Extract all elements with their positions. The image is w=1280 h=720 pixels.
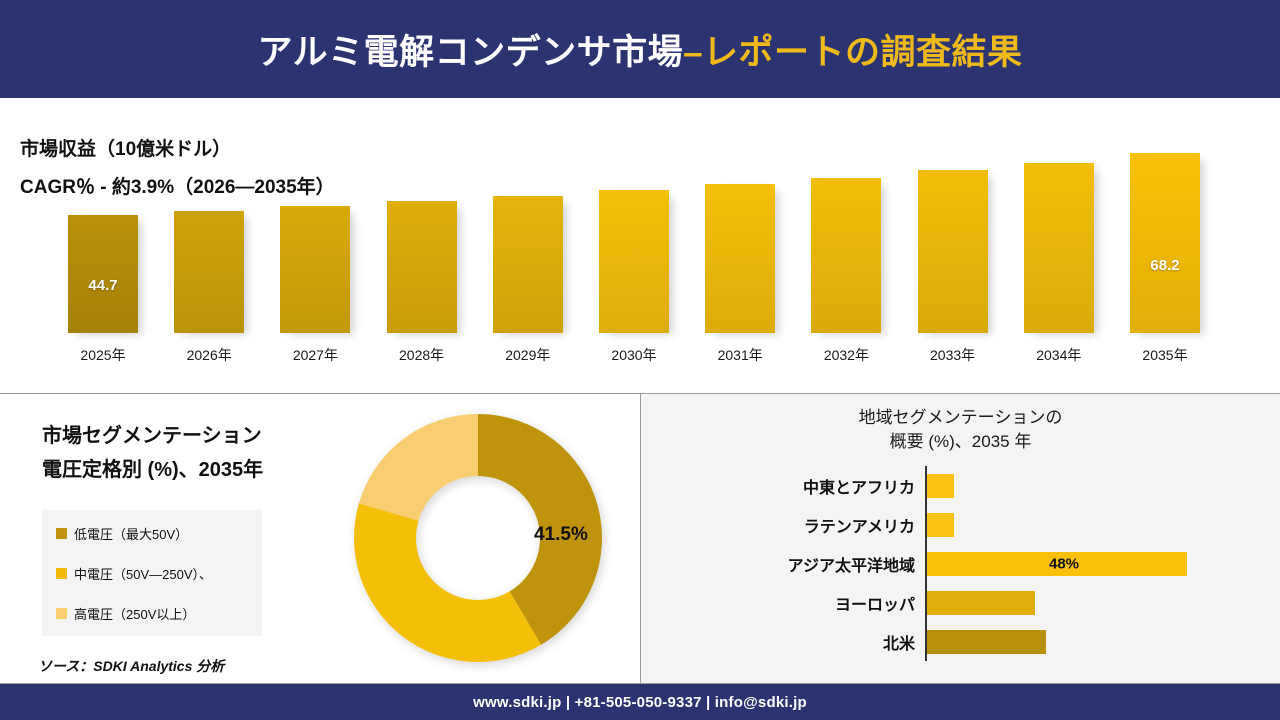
revenue-bar (811, 178, 881, 333)
revenue-bar (280, 206, 350, 333)
donut-slice (354, 503, 541, 662)
revenue-bar-column: 2028年 (387, 143, 457, 333)
revenue-bar (174, 211, 244, 333)
revenue-bar-x-label: 2026年 (174, 345, 244, 365)
revenue-bar (493, 196, 563, 333)
regional-bar (927, 513, 954, 537)
legend-swatch-icon (56, 568, 67, 579)
revenue-bar-x-label: 2025年 (68, 345, 138, 365)
legend-swatch-icon (56, 528, 67, 539)
revenue-bar-plot: 44.72025年2026年2027年2028年2029年2030年2031年2… (0, 98, 1280, 393)
regional-bar-label: アジア太平洋地域 (788, 552, 915, 576)
revenue-bar-x-label: 2033年 (918, 345, 988, 365)
revenue-bar-column: 2032年 (811, 143, 881, 333)
legend-item: 高電圧（250V以上） (56, 604, 195, 623)
regional-bar-label: ヨーロッパ (835, 591, 915, 615)
revenue-bar-value-label: 68.2 (1130, 257, 1200, 274)
page-title-main: アルミ電解コンデンサ市場 (257, 24, 683, 75)
donut-slice (359, 414, 478, 521)
revenue-bar (1130, 153, 1200, 333)
revenue-bar-x-label: 2028年 (387, 345, 457, 365)
regional-bar (927, 630, 1046, 654)
legend-item: 中電圧（50V―250V）、 (56, 564, 212, 583)
revenue-bar-x-label: 2030年 (599, 345, 669, 365)
regional-bar-row: ラテンアメリカ (641, 511, 1280, 539)
legend-item-label: 中電圧（50V―250V）、 (74, 564, 212, 583)
revenue-bar-column: 2031年 (705, 143, 775, 333)
segmentation-title-line1: 市場セグメンテーション (42, 419, 262, 448)
revenue-bar-x-label: 2027年 (280, 345, 350, 365)
revenue-bar-column: 2034年 (1024, 143, 1094, 333)
legend-item-label: 低電圧（最大50V） (74, 524, 188, 543)
segmentation-panel: 市場セグメンテーション 電圧定格別 (%)、2035年 低電圧（最大50V）中電… (0, 394, 640, 683)
revenue-bar (599, 190, 669, 333)
revenue-bar-x-label: 2029年 (493, 345, 563, 365)
regional-bar-label: 中東とアフリカ (803, 474, 915, 498)
revenue-bar-column: 2030年 (599, 143, 669, 333)
revenue-bar-column: 68.22035年 (1130, 143, 1200, 333)
revenue-bar (705, 184, 775, 333)
regional-bar-row: 中東とアフリカ (641, 472, 1280, 500)
footer-contact-text: www.sdki.jp | +81-505-050-9337 | info@sd… (473, 694, 807, 711)
legend-swatch-icon (56, 608, 67, 619)
revenue-bar-x-label: 2032年 (811, 345, 881, 365)
regional-bar-plot: 中東とアフリカラテンアメリカアジア太平洋地域48%ヨーロッパ北米 (641, 394, 1280, 683)
revenue-bar (68, 215, 138, 333)
regional-bar-label: 北米 (883, 630, 915, 654)
revenue-bar (918, 170, 988, 333)
regional-bar-row: 北米 (641, 628, 1280, 656)
legend-item: 低電圧（最大50V） (56, 524, 188, 543)
revenue-bar-x-label: 2035年 (1130, 345, 1200, 365)
legend-item-label: 高電圧（250V以上） (74, 604, 195, 623)
revenue-bar-x-label: 2034年 (1024, 345, 1094, 365)
revenue-bar-column: 2027年 (280, 143, 350, 333)
source-note: ソース：SDKI Analytics 分析 (38, 656, 224, 676)
regional-bar-label: ラテンアメリカ (804, 513, 915, 537)
revenue-chart-section: 市場収益（10億米ドル） CAGR％ - 約3.9%（2026―2035年） 4… (0, 98, 1280, 393)
revenue-bar-column: 44.72025年 (68, 143, 138, 333)
footer-band: www.sdki.jp | +81-505-050-9337 | info@sd… (0, 684, 1280, 720)
revenue-bar (387, 201, 457, 333)
regional-bar-row: ヨーロッパ (641, 589, 1280, 617)
revenue-bar-value-label: 44.7 (68, 277, 138, 294)
regional-bar (927, 474, 954, 498)
segmentation-title-line2: 電圧定格別 (%)、2035年 (42, 453, 263, 482)
revenue-bar (1024, 163, 1094, 333)
infographic-page: アルミ電解コンデンサ市場 –レポートの調査結果 市場収益（10億米ドル） CAG… (0, 0, 1280, 720)
regional-bar (927, 591, 1035, 615)
revenue-bar-column: 2033年 (918, 143, 988, 333)
revenue-bar-column: 2026年 (174, 143, 244, 333)
voltage-donut-chart: 41.5% (352, 412, 604, 664)
revenue-bar-x-label: 2031年 (705, 345, 775, 365)
revenue-bar-column: 2029年 (493, 143, 563, 333)
regional-bar-value-label: 48% (1049, 556, 1079, 573)
page-title-accent: –レポートの調査結果 (683, 24, 1022, 75)
page-title: アルミ電解コンデンサ市場 –レポートの調査結果 (0, 0, 1280, 98)
segmentation-legend: 低電圧（最大50V）中電圧（50V―250V）、高電圧（250V以上） (42, 510, 262, 636)
regional-bar-row: アジア太平洋地域48% (641, 550, 1280, 578)
donut-slice-label: 41.5% (534, 524, 588, 546)
regional-panel: 地域セグメンテーションの 概要 (%)、2035 年 中東とアフリカラテンアメリ… (641, 394, 1280, 683)
